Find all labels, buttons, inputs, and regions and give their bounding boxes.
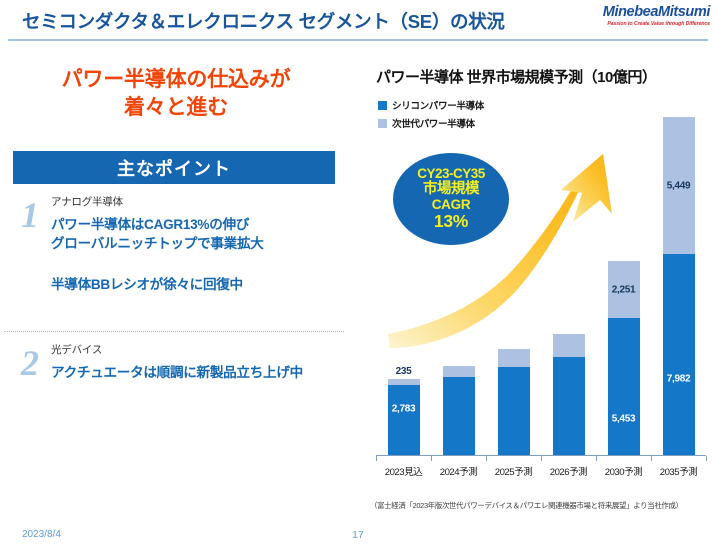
bar-value-next-gen: 2,251 — [608, 284, 640, 295]
bar-group — [498, 349, 530, 455]
points-banner: 主なポイント — [13, 151, 335, 184]
point-number-2: 2 — [13, 346, 47, 380]
point-category-1: アナログ半導体 — [51, 196, 343, 210]
x-axis-tick — [596, 456, 597, 461]
x-axis-tick — [431, 456, 432, 461]
x-axis-label: 2035予測 — [651, 464, 706, 478]
x-axis-label: 2024予測 — [431, 464, 486, 478]
x-axis-label: 2026予測 — [541, 464, 596, 478]
point-category-2: 光デバイス — [51, 344, 343, 358]
logo-tagline: Passion to Create Value through Differen… — [592, 21, 710, 27]
x-axis-label: 2030予測 — [596, 464, 651, 478]
bar-value-next-gen: 235 — [388, 366, 420, 377]
point-text-1-line-2: グローバルニッチトップで事業拡大 — [51, 234, 343, 254]
point-number-1: 1 — [13, 198, 47, 232]
bar-segment-silicon — [553, 357, 585, 455]
point-text-1-sub: 半導体BBレシオが徐々に回復中 — [51, 275, 343, 295]
bar-segment-silicon: 7,982 — [663, 254, 695, 455]
bar-segment-silicon: 2,783 — [388, 385, 420, 455]
chart-title: パワー半導体 世界市場規模予測（10億円） — [376, 66, 656, 87]
x-axis-tick — [541, 456, 542, 461]
logo-wordmark: MinebeaMitsumi — [592, 5, 710, 20]
bar-group — [553, 334, 585, 455]
point-body-1: アナログ半導体 パワー半導体はCAGR13%の伸び グローバルニッチトップで事業… — [51, 196, 343, 295]
x-axis-tick — [376, 456, 377, 461]
bar-value-silicon: 7,982 — [663, 373, 695, 384]
cagr-line-4: 13% — [434, 212, 468, 232]
point-item-2: 2 光デバイス アクチュエータは順調に新製品立ち上げ中 — [13, 344, 343, 382]
chart-source-note: （富士経済「2023年版次世代パワーデバイス＆パワエレ関連機器市場と将来展望」よ… — [370, 500, 716, 511]
x-axis-label: 2025予測 — [486, 464, 541, 478]
headline: パワー半導体の仕込みが 着々と進む — [0, 66, 352, 121]
cagr-annotation-bubble: CY23-CY35 市場規模 CAGR 13% — [393, 153, 509, 245]
cagr-line-3: CAGR — [432, 197, 471, 212]
bar-group: 2352,783 — [388, 379, 420, 455]
x-axis-tick — [486, 456, 487, 461]
bar-segment-next-gen — [498, 349, 530, 367]
cagr-line-1: CY23-CY35 — [417, 166, 485, 181]
point-item-1: 1 アナログ半導体 パワー半導体はCAGR13%の伸び グローバルニッチトップで… — [13, 196, 343, 295]
x-axis-label: 2023見込 — [376, 464, 431, 478]
slide-header: セミコンダクタ＆エレクロニクス セグメント（SE）の状況 MinebeaMits… — [0, 0, 716, 42]
point-divider — [4, 331, 344, 332]
bar-value-silicon: 5,453 — [608, 414, 640, 425]
chart-plot-area — [376, 98, 706, 456]
cagr-line-2: 市場規模 — [423, 181, 479, 197]
footer-page-number: 17 — [0, 529, 716, 541]
point-body-2: 光デバイス アクチュエータは順調に新製品立ち上げ中 — [51, 344, 343, 382]
bar-group — [443, 366, 475, 455]
page-title: セミコンダクタ＆エレクロニクス セグメント（SE）の状況 — [22, 8, 505, 34]
x-axis-tick — [706, 456, 707, 461]
headline-line-2: 着々と進む — [0, 94, 352, 122]
bar-group: 2,2515,453 — [608, 261, 640, 455]
bar-segment-silicon — [498, 367, 530, 455]
point-text-2-line-1: アクチュエータは順調に新製品立ち上げ中 — [51, 363, 343, 383]
chart-panel: パワー半導体 世界市場規模予測（10億円） シリコンパワー半導体 次世代パワー半… — [360, 48, 716, 548]
bar-value-next-gen: 5,449 — [663, 180, 695, 191]
bar-segment-next-gen — [553, 334, 585, 357]
bar-segment-next-gen: 5,449 — [663, 117, 695, 254]
left-content-column: パワー半導体の仕込みが 着々と進む 主なポイント 1 アナログ半導体 パワー半導… — [0, 48, 360, 508]
bar-segment-next-gen: 2,251 — [608, 261, 640, 318]
x-axis-tick — [651, 456, 652, 461]
bar-segment-next-gen — [443, 366, 475, 377]
company-logo: MinebeaMitsumi Passion to Create Value t… — [592, 5, 710, 27]
header-divider — [8, 39, 708, 41]
bar-segment-silicon: 5,453 — [608, 318, 640, 455]
bar-value-silicon: 2,783 — [388, 403, 420, 414]
headline-line-1: パワー半導体の仕込みが — [0, 66, 352, 94]
bar-segment-silicon — [443, 377, 475, 455]
bar-group: 5,4497,982 — [663, 117, 695, 455]
point-text-1-line-1: パワー半導体はCAGR13%の伸び — [51, 215, 343, 235]
